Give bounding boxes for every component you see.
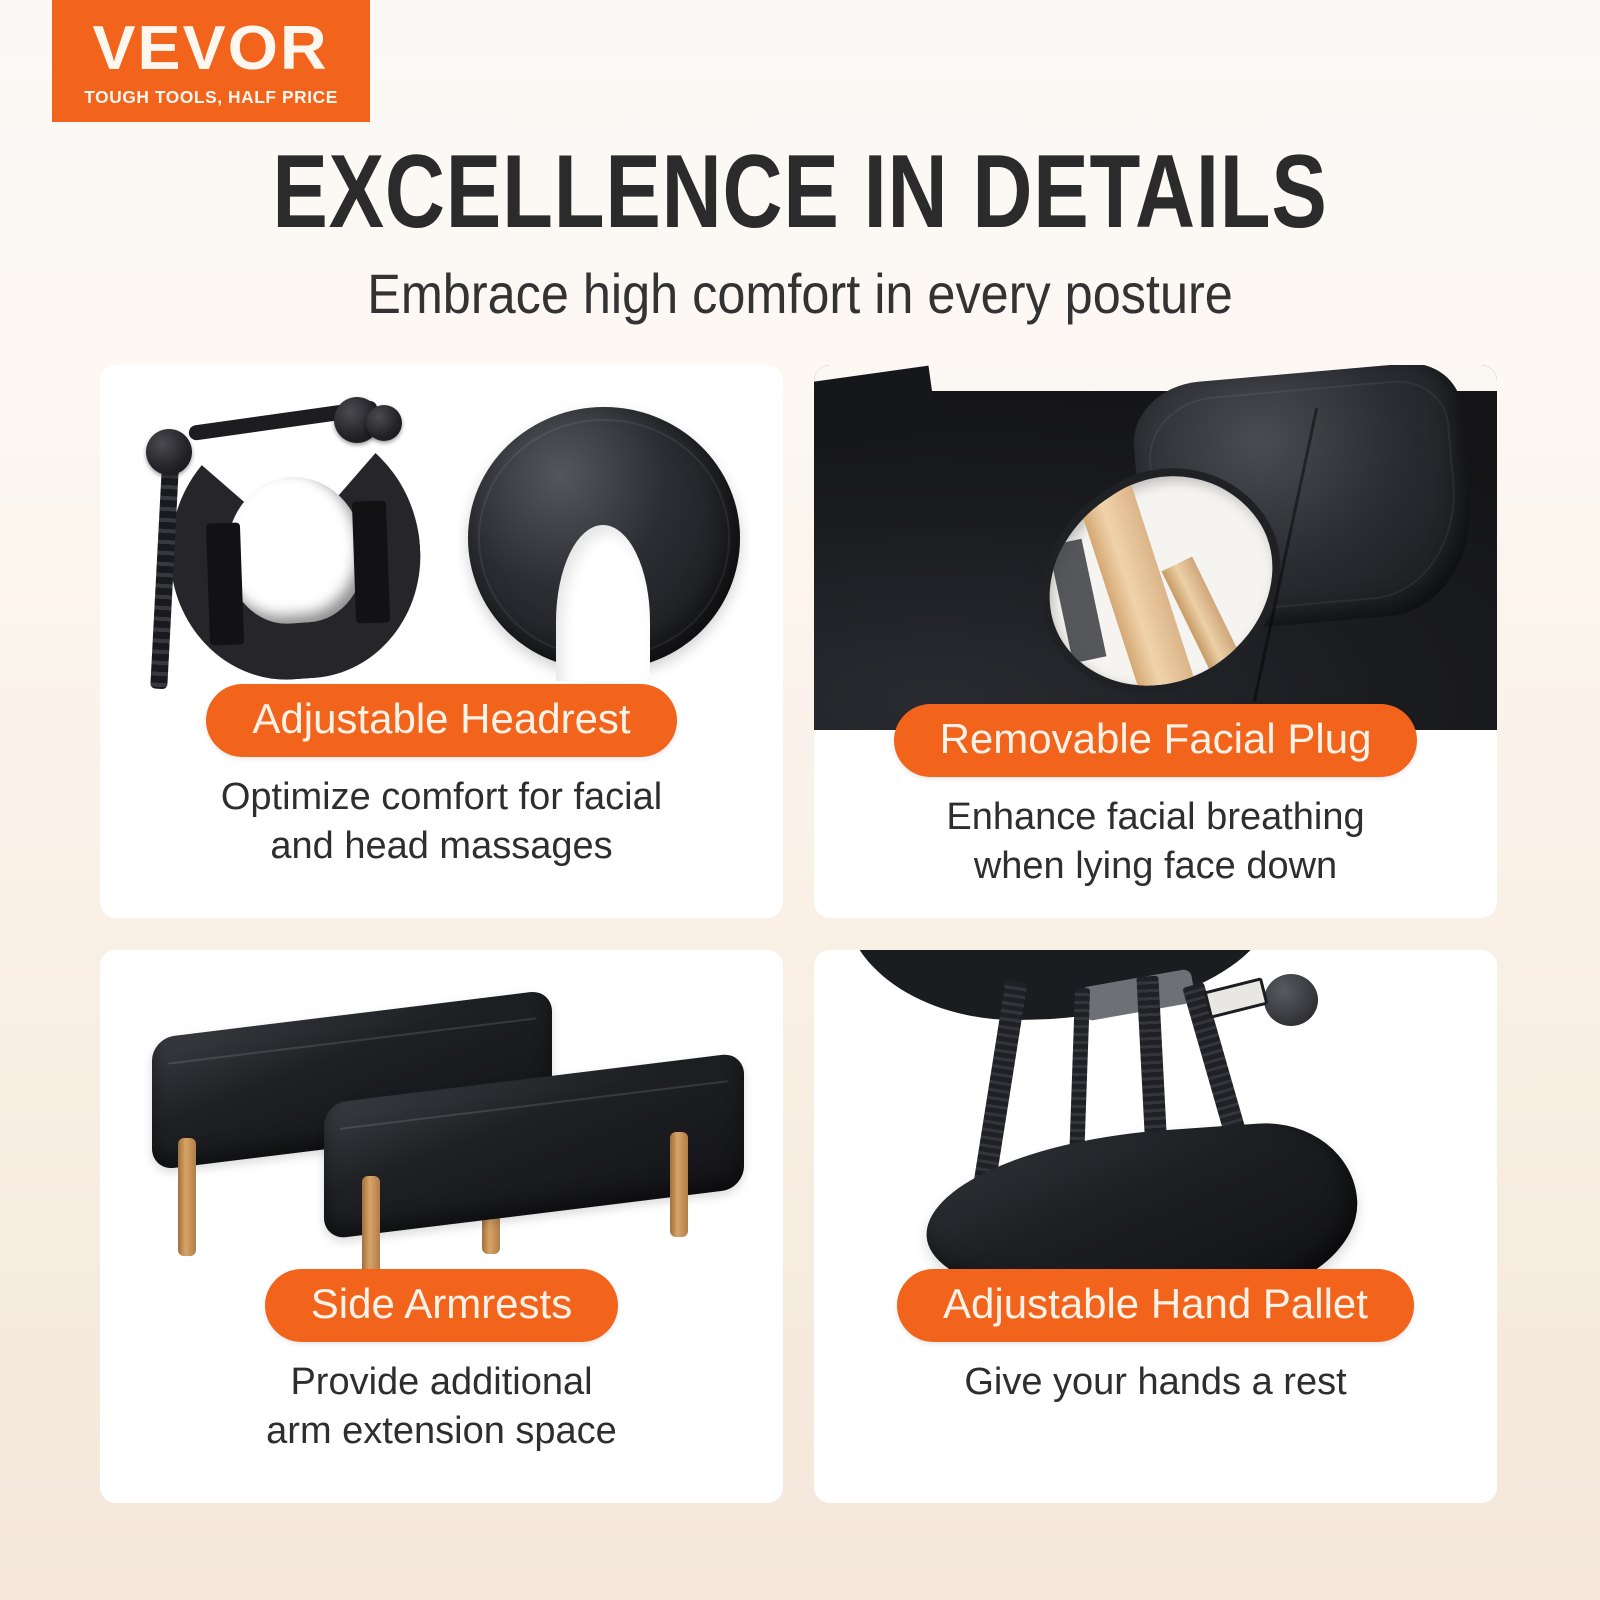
badge-container: Removable Facial Plug: [814, 704, 1497, 777]
feature-description-adjustable-headrest: Optimize comfort for facial and head mas…: [100, 757, 783, 870]
facial-plug-product-photo: [814, 365, 1497, 730]
strap-buckle-icon: [1204, 977, 1269, 1019]
face-cushion-illustration: [468, 407, 740, 669]
badge-container: Adjustable Headrest: [100, 684, 783, 757]
feature-description-adjustable-hand-pallet: Give your hands a rest: [814, 1342, 1497, 1407]
headrest-knob-icon: [366, 405, 402, 441]
feature-card-side-armrests: Side Armrests Provide additional arm ext…: [100, 950, 783, 1503]
feature-badge-adjustable-headrest: Adjustable Headrest: [206, 684, 676, 757]
page-title: EXCELLENCE IN DETAILS: [160, 140, 1440, 244]
headrest-velcro-strip-icon: [352, 500, 390, 623]
feature-card-removable-facial-plug: Removable Facial Plug Enhance facial bre…: [814, 365, 1497, 918]
headrest-knob-icon: [146, 429, 192, 475]
feature-card-grid: Adjustable Headrest Optimize comfort for…: [100, 365, 1497, 1505]
table-knob-disc-icon: [1264, 974, 1318, 1026]
feature-description-removable-facial-plug: Enhance facial breathing when lying face…: [814, 777, 1497, 890]
table-headpiece-icon: [814, 366, 938, 455]
feature-card-adjustable-headrest: Adjustable Headrest Optimize comfort for…: [100, 365, 783, 918]
brand-name: VEVOR: [93, 20, 329, 79]
vevor-logo: VEVOR TOUGH TOOLS, HALF PRICE: [52, 0, 370, 122]
headrest-velcro-strip-icon: [206, 522, 244, 645]
hand-pallet-product-photo: [814, 950, 1497, 1295]
armrest-seam-icon: [168, 1017, 536, 1064]
armrest-wooden-leg-icon: [670, 1132, 688, 1237]
massage-table-illustration: [814, 365, 1497, 730]
badge-container: Side Armrests: [100, 1269, 783, 1342]
armrests-product-photo: [100, 950, 783, 1295]
brand-tagline: TOUGH TOOLS, HALF PRICE: [84, 87, 338, 108]
headrest-u-pad-icon: [161, 413, 428, 688]
page-subtitle: Embrace high comfort in every posture: [80, 262, 1520, 326]
feature-description-side-armrests: Provide additional arm extension space: [100, 1342, 783, 1455]
headrest-frame-illustration: [144, 399, 444, 679]
headrest-product-photo: [100, 365, 783, 710]
badge-container: Adjustable Hand Pallet: [814, 1269, 1497, 1342]
feature-badge-adjustable-hand-pallet: Adjustable Hand Pallet: [897, 1269, 1414, 1342]
feature-card-adjustable-hand-pallet: Adjustable Hand Pallet Give your hands a…: [814, 950, 1497, 1503]
feature-badge-side-armrests: Side Armrests: [265, 1269, 618, 1342]
feature-badge-removable-facial-plug: Removable Facial Plug: [894, 704, 1418, 777]
armrest-wooden-leg-icon: [178, 1138, 196, 1256]
